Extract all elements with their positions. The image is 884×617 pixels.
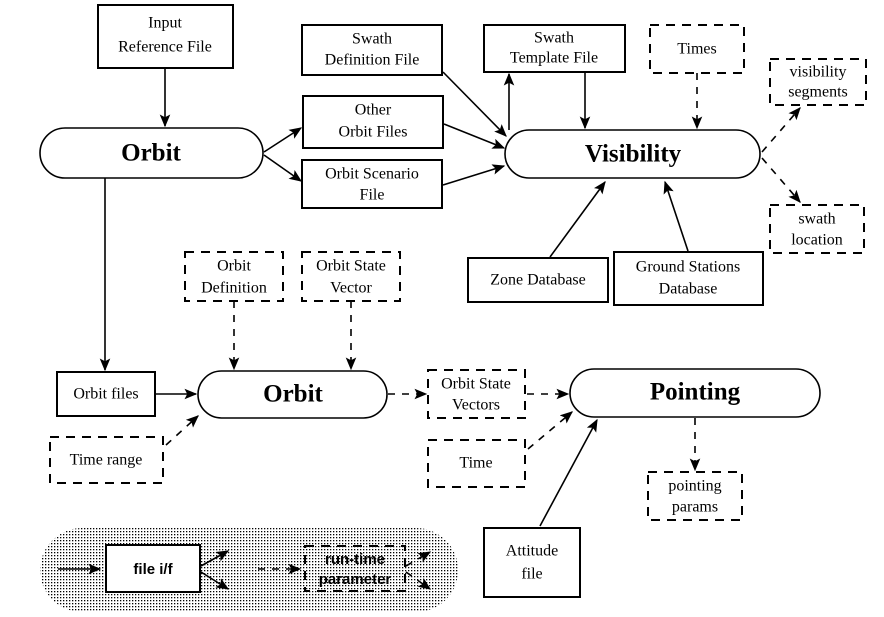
swath-location-line-2: location bbox=[791, 232, 843, 249]
node-pointing-params[interactable]: pointing params bbox=[648, 472, 742, 520]
pointing-label: Pointing bbox=[650, 379, 741, 406]
visibility-label: Visibility bbox=[585, 141, 682, 168]
node-orbit-state-vectors[interactable]: Orbit State Vectors bbox=[428, 370, 525, 418]
node-orbit-mid[interactable]: Orbit bbox=[198, 371, 387, 418]
other-orbit-files-line-2: Orbit Files bbox=[339, 124, 408, 141]
edge-attitude-file-to-pointing bbox=[540, 420, 597, 526]
orbit-state-vectors-line-2: Vectors bbox=[452, 397, 500, 414]
node-swath-definition-file[interactable]: Swath Definition File bbox=[302, 25, 442, 75]
swath-definition-file-line-1: Swath bbox=[352, 31, 392, 48]
attitude-file-box[interactable] bbox=[484, 528, 580, 597]
edge-visibility-to-visibility-segments bbox=[762, 108, 800, 152]
node-time-range[interactable]: Time range bbox=[50, 437, 163, 483]
edge-time-to-pointing bbox=[528, 412, 572, 449]
file-nodes: Input Reference File Swath Definition Fi… bbox=[57, 5, 763, 597]
node-orbit-files[interactable]: Orbit files bbox=[57, 372, 155, 416]
edge-orbit-to-other-orbit-files bbox=[264, 128, 301, 152]
zone-database-label: Zone Database bbox=[490, 272, 586, 289]
diagram-canvas: file i/f run-time parameter bbox=[0, 0, 884, 617]
input-reference-file-line-1: Input bbox=[148, 15, 182, 32]
orbit-definition-line-1: Orbit bbox=[217, 258, 251, 275]
swath-template-file-line-2: Template File bbox=[510, 50, 598, 67]
edge-ground-stations-database-to-visibility bbox=[665, 182, 688, 251]
orbit-files-label: Orbit files bbox=[73, 386, 138, 403]
node-visibility-segments[interactable]: visibility segments bbox=[770, 59, 866, 105]
attitude-file-line-1: Attitude bbox=[506, 543, 558, 560]
orbit-mid-label: Orbit bbox=[263, 381, 323, 408]
node-zone-database[interactable]: Zone Database bbox=[468, 258, 608, 302]
edge-orbit-to-orbit-scenario-file bbox=[264, 155, 301, 181]
time-range-label: Time range bbox=[70, 452, 143, 469]
edge-swath-definition-file-to-visibility bbox=[443, 72, 506, 136]
ground-stations-database-line-2: Database bbox=[659, 281, 718, 298]
node-time[interactable]: Time bbox=[428, 440, 525, 487]
orbit-scenario-file-line-2: File bbox=[360, 187, 385, 204]
swath-template-file-line-1: Swath bbox=[534, 30, 574, 47]
node-orbit-state-vector[interactable]: Orbit State Vector bbox=[302, 252, 400, 301]
edge-orbit-scenario-file-to-visibility bbox=[443, 166, 504, 185]
node-attitude-file[interactable]: Attitude file bbox=[484, 528, 580, 597]
legend-panel: file i/f run-time parameter bbox=[40, 528, 458, 612]
edge-visibility-to-swath-location bbox=[762, 158, 800, 202]
visibility-segments-line-1: visibility bbox=[790, 64, 847, 81]
legend-file-if-label: file i/f bbox=[133, 561, 173, 578]
node-ground-stations-database[interactable]: Ground Stations Database bbox=[614, 252, 763, 305]
attitude-file-line-2: file bbox=[521, 566, 542, 583]
node-input-reference-file[interactable]: Input Reference File bbox=[98, 5, 233, 68]
node-visibility[interactable]: Visibility bbox=[505, 130, 760, 178]
node-other-orbit-files[interactable]: Other Orbit Files bbox=[303, 96, 443, 148]
node-times[interactable]: Times bbox=[650, 25, 744, 73]
node-swath-location[interactable]: swath location bbox=[770, 205, 864, 253]
ground-stations-database-line-1: Ground Stations bbox=[636, 259, 740, 276]
swath-location-line-1: swath bbox=[798, 211, 835, 228]
times-label: Times bbox=[677, 41, 716, 58]
orbit-definition-line-2: Definition bbox=[201, 280, 267, 297]
orbit-scenario-file-line-1: Orbit Scenario bbox=[325, 166, 419, 183]
legend-background bbox=[40, 528, 458, 612]
pointing-params-line-2: params bbox=[672, 499, 718, 516]
other-orbit-files-line-1: Other bbox=[355, 102, 392, 119]
swath-definition-file-line-2: Definition File bbox=[325, 52, 420, 69]
edge-other-orbit-files-to-visibility bbox=[444, 124, 504, 148]
node-swath-template-file[interactable]: Swath Template File bbox=[484, 25, 625, 72]
edge-time-range-to-orbit-mid bbox=[166, 416, 198, 445]
orbit-state-vector-line-2: Vector bbox=[330, 280, 372, 297]
node-orbit-definition[interactable]: Orbit Definition bbox=[185, 252, 283, 301]
visibility-segments-line-2: segments bbox=[788, 84, 848, 101]
orbit-state-vectors-line-1: Orbit State bbox=[441, 376, 511, 393]
node-orbit-top[interactable]: Orbit bbox=[40, 128, 263, 178]
time-label: Time bbox=[459, 455, 492, 472]
orbit-top-label: Orbit bbox=[121, 140, 181, 167]
pointing-params-line-1: pointing bbox=[668, 478, 721, 495]
node-pointing[interactable]: Pointing bbox=[570, 369, 820, 417]
edge-zone-database-to-visibility bbox=[550, 182, 605, 257]
legend-run-time-line-2: parameter bbox=[319, 571, 392, 588]
legend-run-time-line-1: run-time bbox=[325, 551, 385, 568]
diagram-svg: file i/f run-time parameter bbox=[0, 0, 884, 617]
input-reference-file-line-2: Reference File bbox=[118, 39, 212, 56]
node-orbit-scenario-file[interactable]: Orbit Scenario File bbox=[302, 160, 442, 208]
orbit-state-vector-line-1: Orbit State bbox=[316, 258, 386, 275]
